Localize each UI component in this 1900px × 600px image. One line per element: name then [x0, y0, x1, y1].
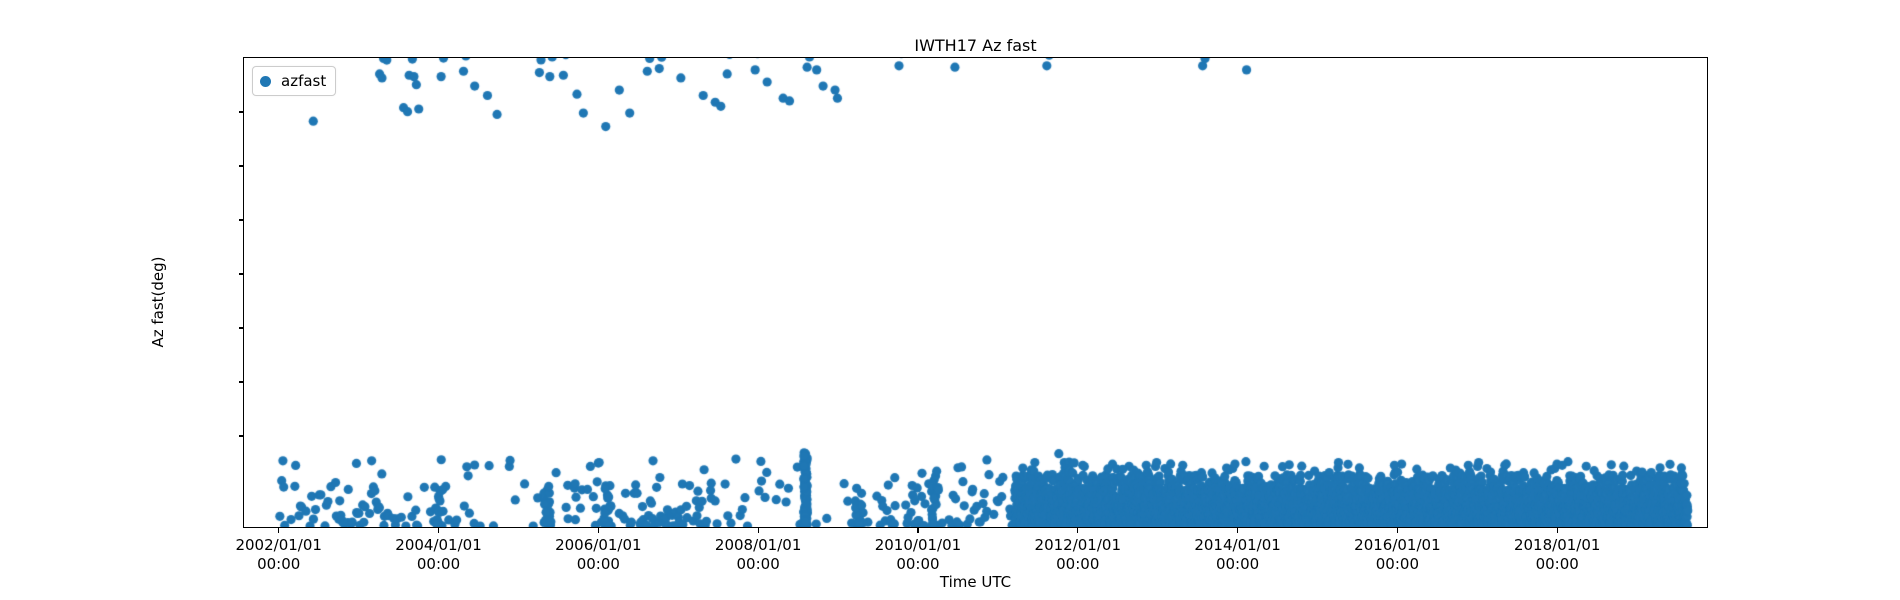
x-tick-label-line: 2004/01/01	[395, 536, 481, 555]
x-tick-label-line: 2008/01/01	[715, 536, 801, 555]
x-tick-label-line: 2016/01/01	[1354, 536, 1440, 555]
y-axis-label: Az fast(deg)	[148, 292, 168, 312]
x-tick-label-line: 00:00	[875, 555, 961, 574]
x-tick-label-line: 00:00	[395, 555, 481, 574]
legend-label-azfast: azfast	[281, 72, 326, 90]
x-tick-label-line: 2012/01/01	[1035, 536, 1121, 555]
x-tick-mark	[758, 528, 759, 533]
x-tick-label: 2010/01/0100:00	[875, 536, 961, 574]
x-tick-label-line: 2002/01/01	[235, 536, 321, 555]
y-axis-label-text: Az fast(deg)	[149, 256, 167, 347]
x-tick-label-line: 00:00	[1035, 555, 1121, 574]
x-tick-label: 2014/01/0100:00	[1194, 536, 1280, 574]
scatter-points-layer	[244, 58, 1708, 528]
x-tick-label-line: 2010/01/01	[875, 536, 961, 555]
x-tick-mark	[917, 528, 918, 533]
x-tick-label-line: 2018/01/01	[1514, 536, 1600, 555]
x-axis-label: Time UTC	[243, 573, 1708, 591]
chart-title: IWTH17 Az fast	[243, 36, 1708, 55]
x-tick-mark	[438, 528, 439, 533]
x-tick-label: 2004/01/0100:00	[395, 536, 481, 574]
x-tick-label-line: 00:00	[1514, 555, 1600, 574]
legend-marker-azfast-icon	[260, 76, 271, 87]
x-tick-label-line: 00:00	[235, 555, 321, 574]
x-tick-label: 2018/01/0100:00	[1514, 536, 1600, 574]
x-tick-label-line: 00:00	[555, 555, 641, 574]
x-tick-label-line: 00:00	[1194, 555, 1280, 574]
x-tick-mark	[1397, 528, 1398, 533]
plot-area: azfast	[243, 57, 1708, 528]
x-tick-label: 2006/01/0100:00	[555, 536, 641, 574]
x-tick-label: 2002/01/0100:00	[235, 536, 321, 574]
x-tick-label: 2012/01/0100:00	[1035, 536, 1121, 574]
x-tick-label-line: 00:00	[715, 555, 801, 574]
x-tick-mark	[278, 528, 279, 533]
x-tick-label-line: 2006/01/01	[555, 536, 641, 555]
matplotlib-figure: IWTH17 Az fast Az fast(deg) 406080100120…	[0, 0, 1900, 600]
x-tick-label: 2016/01/0100:00	[1354, 536, 1440, 574]
x-tick-label-line: 2014/01/01	[1194, 536, 1280, 555]
x-tick-mark	[1237, 528, 1238, 533]
legend[interactable]: azfast	[252, 66, 336, 96]
x-tick-mark	[598, 528, 599, 533]
x-tick-mark	[1557, 528, 1558, 533]
x-tick-label-line: 00:00	[1354, 555, 1440, 574]
x-tick-label: 2008/01/0100:00	[715, 536, 801, 574]
x-tick-mark	[1077, 528, 1078, 533]
